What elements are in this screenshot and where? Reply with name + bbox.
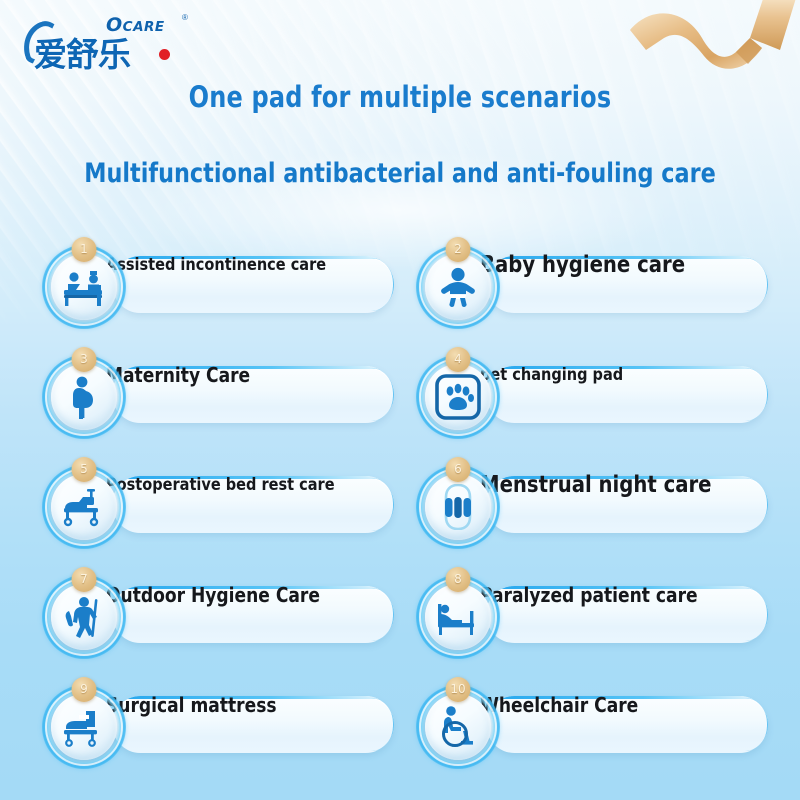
pregnant-woman-icon — [51, 364, 117, 430]
scenario-number-badge: 4 — [446, 347, 471, 372]
scenario-label: Outdoor Hygiene Care — [106, 566, 320, 623]
patient-in-bed-with-nurse-icon — [51, 254, 117, 320]
page-subtitle: Multifunctional antibacterial and anti-f… — [32, 158, 768, 189]
scenario-icon-badge: 9 — [42, 685, 126, 769]
scenario-card[interactable]: Assisted incontinence care 1 — [34, 236, 394, 333]
scenario-label: pet changing pad — [480, 346, 623, 403]
sanitary-pad-icon — [425, 474, 491, 540]
adjustable-surgical-bed-icon — [51, 694, 117, 760]
scenario-number-badge: 6 — [446, 457, 471, 482]
scenario-card[interactable]: Outdoor Hygiene Care 7 — [34, 566, 394, 663]
scenario-icon-badge: 8 — [416, 575, 500, 659]
baby-icon — [425, 254, 491, 320]
hiker-icon — [51, 584, 117, 650]
scenario-card[interactable]: Wheelchair Care 10 — [408, 676, 768, 773]
person-lying-in-bed-icon — [425, 584, 491, 650]
scenario-card[interactable]: Menstrual night care 6 — [408, 456, 768, 553]
gold-ribbon-decoration — [590, 0, 800, 89]
scenario-number-badge: 1 — [72, 237, 97, 262]
logo-chinese-text: 爱舒乐 — [34, 28, 130, 76]
scenario-icon-badge: 7 — [42, 575, 126, 659]
scenario-number-badge: 7 — [72, 567, 97, 592]
scenario-label: Menstrual night care — [480, 456, 712, 513]
scenario-icon-badge: 1 — [42, 245, 126, 329]
scenario-number-badge: 2 — [446, 237, 471, 262]
registered-mark: ® — [182, 13, 188, 22]
scenario-icon-badge: 6 — [416, 465, 500, 549]
scenario-card[interactable]: Baby hygiene care 2 — [408, 236, 768, 333]
scenario-card[interactable]: Paralyzed patient care 8 — [408, 566, 768, 663]
scenario-number-badge: 8 — [446, 567, 471, 592]
scenario-label: Baby hygiene care — [480, 236, 685, 293]
scenario-icon-badge: 10 — [416, 685, 500, 769]
scenario-icon-badge: 5 — [42, 465, 126, 549]
scenario-number-badge: 9 — [72, 677, 97, 702]
scenario-label: Assisted incontinence care — [106, 236, 326, 293]
scenario-icon-badge: 3 — [42, 355, 126, 439]
brand-logo: OCARE ® 爱舒乐 — [18, 8, 198, 70]
scenario-number-badge: 10 — [446, 677, 471, 702]
scenario-number-badge: 3 — [72, 347, 97, 372]
wheelchair-icon — [425, 694, 491, 760]
scenario-label: Paralyzed patient care — [480, 566, 698, 623]
scenario-label: Wheelchair Care — [480, 676, 638, 733]
scenario-card[interactable]: Maternity Care 3 — [34, 346, 394, 443]
hospital-gurney-icon — [51, 474, 117, 540]
scenario-number-badge: 5 — [72, 457, 97, 482]
paw-print-icon — [425, 364, 491, 430]
scenario-card[interactable]: Surgical mattress 9 — [34, 676, 394, 773]
scenario-label: Surgical mattress — [106, 676, 277, 733]
scenario-icon-badge: 2 — [416, 245, 500, 329]
scenario-label: Maternity Care — [106, 346, 250, 403]
logo-red-dot-icon — [159, 49, 170, 60]
scenario-grid: Assisted incontinence care 1Baby hygiene… — [34, 236, 768, 773]
scenario-card[interactable]: pet changing pad 4 — [408, 346, 768, 443]
scenario-label: Postoperative bed rest care — [106, 456, 335, 513]
infographic-page: OCARE ® 爱舒乐 One pad for multiple scenari… — [0, 0, 800, 800]
page-title: One pad for multiple scenarios — [32, 80, 768, 114]
scenario-icon-badge: 4 — [416, 355, 500, 439]
scenario-card[interactable]: Postoperative bed rest care 5 — [34, 456, 394, 553]
